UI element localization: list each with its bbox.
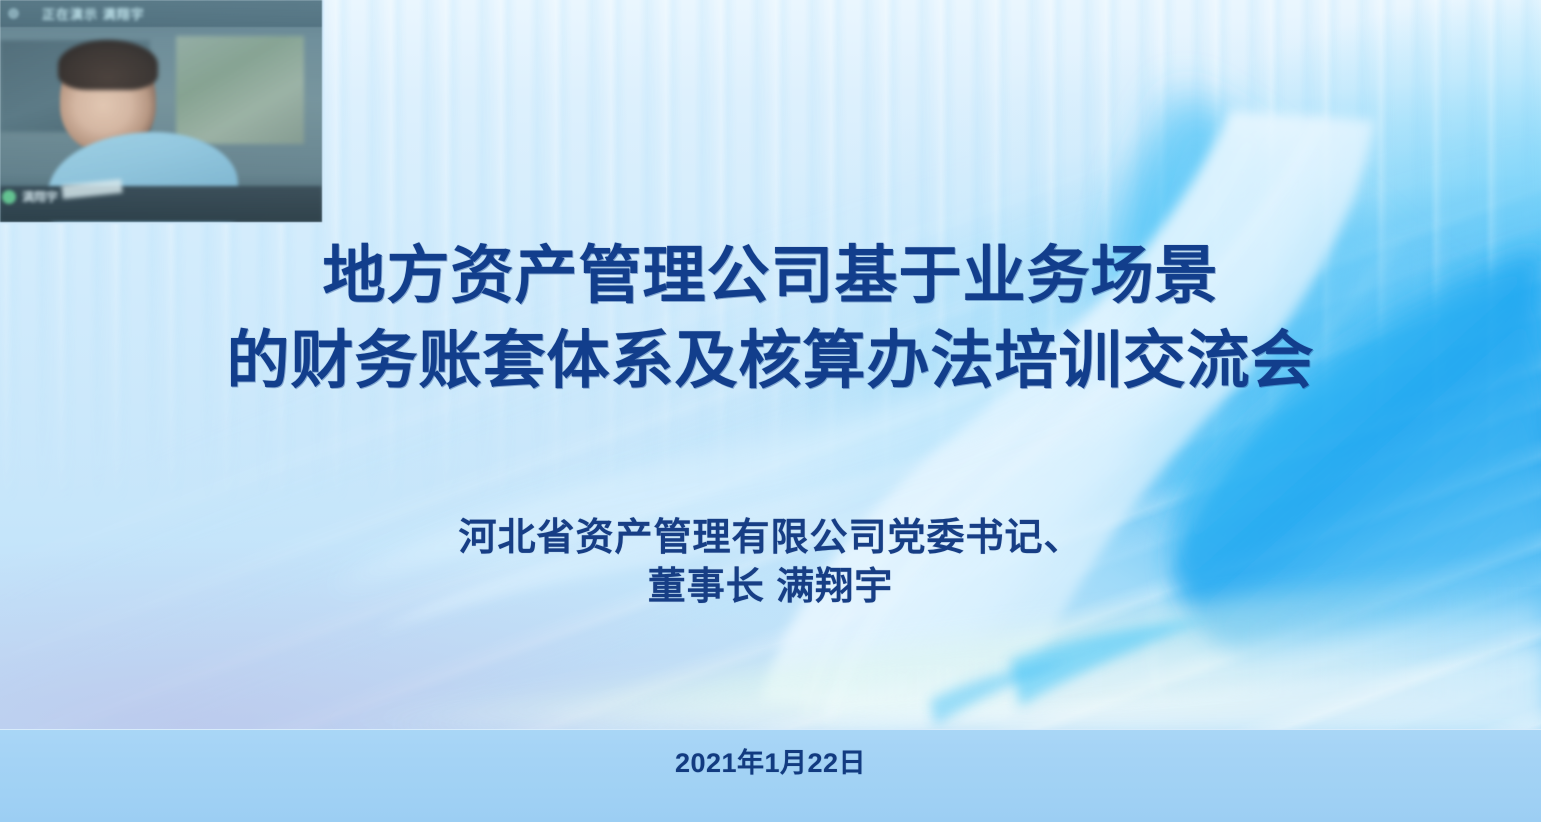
slide-title: 地方资产管理公司基于业务场景 的财务账套体系及核算办法培训交流会	[0, 234, 1541, 404]
slide-subtitle: 河北省资产管理有限公司党委书记、 董事长 满翔宇	[0, 514, 1541, 612]
presenter-video-overlay[interactable]: 满翔宇 正在演示 满翔宇	[0, 0, 324, 224]
slide-date: 2021年1月22日	[0, 741, 1541, 780]
subtitle-line-1: 河北省资产管理有限公司党委书记、	[0, 514, 1541, 563]
title-line-2: 的财务账套体系及核算办法培训交流会	[0, 319, 1541, 404]
title-line-1: 地方资产管理公司基于业务场景	[0, 234, 1541, 319]
video-scanline-noise	[0, 0, 322, 222]
presentation-slide: 满翔宇 正在演示 满翔宇 地方资产管理公司基于业务场景 的财务账套体系及核算办法…	[0, 0, 1541, 822]
subtitle-line-2: 董事长 满翔宇	[0, 563, 1541, 612]
